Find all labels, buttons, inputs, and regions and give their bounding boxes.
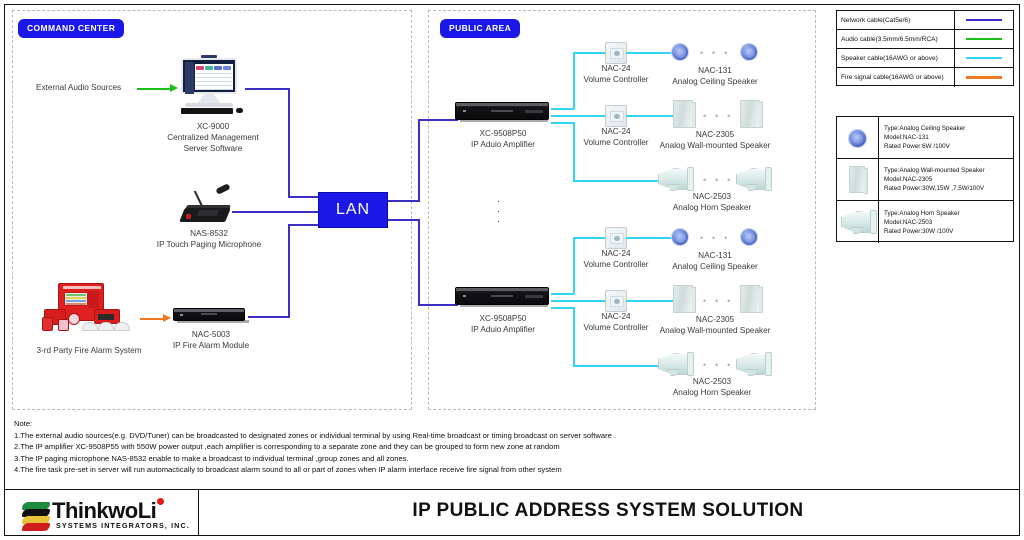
badge-public-area: PUBLIC AREA [440, 19, 520, 38]
app-sidebar-thumb [185, 62, 194, 94]
badge-command-center: COMMAND CENTER [18, 19, 124, 38]
ellipsis-horn-2: • • • [703, 361, 733, 370]
note-item-3: 3.The IP paging microphone NAS-8532 enab… [14, 453, 974, 465]
fire-cable-swatch [966, 76, 1002, 79]
label-wall-speaker-1-desc: Analog Wall-mounted Speaker [648, 140, 782, 151]
net-line-firemodule-h [248, 316, 290, 318]
net-line-mic-to-lan [232, 211, 319, 213]
legend-cable-label: Fire signal cable(16AWG or above) [837, 68, 955, 87]
label-fire-module-model: NAC-5003 [152, 329, 270, 340]
vertical-ellipsis-3: . [497, 216, 500, 224]
label-horn-speaker-1-desc: Analog Horn Speaker [656, 202, 768, 213]
label-amplifier2-desc: IP Aduio Amplifier [444, 324, 562, 335]
device-amplifier-2 [455, 287, 551, 309]
brand-subtitle: SYSTEMS INTEGRATORS, INC. [56, 521, 190, 530]
smoke-detector-icon-1 [82, 322, 98, 331]
fire-signal-line [140, 318, 164, 320]
vertical-ellipsis-2: . [497, 206, 500, 214]
label-server-desc: Centralized Management Server Software [152, 132, 274, 154]
ellipsis-wall-2: • • • [703, 297, 733, 306]
legend-device-model: Model:NAC-2503 [884, 218, 1013, 227]
net-line-server-v [288, 88, 290, 197]
label-vc1b-model: NAC-24 [575, 126, 657, 137]
legend-cable-swatch-cell [955, 30, 1013, 48]
label-vc2b-model: NAC-24 [575, 311, 657, 322]
spk-line-vc1b-to-speaker [626, 115, 674, 117]
net-line-lan-amp1-h1 [388, 200, 420, 202]
device-amplifier-1 [455, 102, 551, 124]
legend-cable-row: Audio cable(3.5mm/6.5mm/RCA) [837, 30, 1013, 49]
keyboard-icon [181, 108, 233, 114]
panel-keypad [88, 291, 99, 308]
spk-line-amp1-top-h [551, 108, 574, 110]
legend-cable-row: Speaker cable(16AWG or above) [837, 49, 1013, 68]
note-item-4: 4.The fire task pre-set in server will r… [14, 464, 974, 476]
device-wall-speaker-1a [673, 100, 693, 128]
spk-line-amp1-bot-h [551, 122, 574, 124]
label-fire-module-desc: IP Fire Alarm Module [142, 340, 280, 351]
spk-line-vc2b-to-speaker [626, 300, 674, 302]
legend-cable-label: Network cable(Cat5e/6) [837, 11, 955, 29]
legend-device-row: Type:Analog Wall-mounted Speaker Model:N… [837, 159, 1013, 201]
label-ceiling-speaker-2-desc: Analog Ceiling Speaker [660, 261, 770, 272]
label-wall-speaker-2-model: NAC-2305 [672, 314, 758, 325]
footer-title: IP PUBLIC ADDRESS SYSTEM SOLUTION [198, 500, 1018, 522]
spk-line-amp2-bot-h [551, 307, 574, 309]
speaker-cable-swatch [966, 57, 1002, 60]
legend-device-text: Type:Analog Wall-mounted Speaker Model:N… [879, 159, 1013, 200]
legend-cable-label: Audio cable(3.5mm/6.5mm/RCA) [837, 30, 955, 48]
device-volume-controller-2a [605, 227, 627, 249]
device-wall-speaker-1b [740, 100, 760, 128]
legend-device-power: Rated Power:6W /100V [884, 142, 1013, 151]
legend-device-text: Type:Analog Ceiling Speaker Model:NAC-13… [879, 117, 1013, 158]
legend-cable-swatch-cell [955, 49, 1013, 67]
label-amplifier1-desc: IP Aduio Amplifier [444, 139, 562, 150]
logo-leaf-red [22, 523, 50, 531]
lan-label: LAN [336, 201, 370, 219]
spk-line-amp2-top-h [551, 293, 574, 295]
spk-line-amp1-horn [573, 180, 659, 182]
audio-cable-swatch [966, 38, 1002, 41]
legend-wall-speaker-icon-cell [837, 159, 879, 200]
fire-extinguisher-icon [42, 317, 53, 331]
spk-line-vc1a-to-speaker [626, 52, 674, 54]
device-fire-alarm-module [173, 308, 249, 324]
label-amplifier2-model: XC-9508P50 [444, 313, 562, 324]
legend-device-power: Rated Power:30W,15W ,7.5W/100V [884, 184, 1013, 193]
label-amplifier1-model: XC-9508P50 [444, 128, 562, 139]
legend-cable-swatch-cell [955, 11, 1013, 29]
legend-device-model: Model:NAC-2305 [884, 175, 1013, 184]
wall-speaker-icon [849, 166, 865, 193]
label-horn-speaker-2-model: NAC-2503 [669, 376, 755, 387]
device-volume-controller-1a [605, 42, 627, 64]
note-item-2: 2.The IP amplifier XC-9508P55 with 550W … [14, 441, 974, 453]
ceiling-speaker-icon [848, 129, 867, 148]
panel-display [64, 292, 88, 306]
label-horn-speaker-1-model: NAC-2503 [669, 191, 755, 202]
legend-device-row: Type:Analog Ceiling Speaker Model:NAC-13… [837, 117, 1013, 159]
fire-signal-arrow-icon [163, 314, 171, 322]
net-line-server-h [245, 88, 289, 90]
net-line-lan-amp2-v [418, 219, 420, 305]
monitor-screen [181, 58, 237, 94]
device-server-monitor [181, 58, 245, 116]
notes-block: Note: 1.The external audio sources(e.g. … [14, 418, 974, 476]
device-horn-speaker-2a [658, 353, 692, 375]
ellipsis-wall-1: • • • [703, 112, 733, 121]
mic-display [197, 210, 219, 216]
brand-accent-dot [157, 498, 164, 505]
audio-cable-line [137, 88, 171, 90]
smoke-detector-icon-3 [114, 322, 130, 331]
device-horn-speaker-1b [736, 168, 770, 190]
device-horn-speaker-2b [736, 353, 770, 375]
legend-cable-types: Network cable(Cat5e/6) Audio cable(3.5mm… [836, 10, 1014, 86]
audio-arrow-icon [170, 84, 178, 92]
label-wall-speaker-1-model: NAC-2305 [672, 129, 758, 140]
device-volume-controller-1b [605, 105, 627, 127]
device-volume-controller-2b [605, 290, 627, 312]
fire-bell-icon [68, 313, 80, 325]
label-ceiling-speaker-1-model: NAC-131 [672, 65, 758, 76]
smoke-detector-icon-2 [98, 322, 114, 331]
legend-device-type: Type:Analog Wall-mounted Speaker [884, 166, 1013, 175]
legend-device-model: Model:NAC-131 [884, 133, 1013, 142]
label-ceiling-speaker-1-desc: Analog Ceiling Speaker [660, 76, 770, 87]
vertical-ellipsis-1: . [497, 196, 500, 204]
legend-device-type: Type:Analog Horn Speaker [884, 209, 1013, 218]
label-paging-mic-model: NAS-8532 [148, 228, 270, 239]
device-paging-microphone [172, 186, 242, 226]
net-line-lan-amp2-h2 [418, 304, 458, 306]
device-horn-speaker-1a [658, 168, 692, 190]
mic-talk-button [186, 214, 191, 219]
legend-cable-row: Fire signal cable(16AWG or above) [837, 68, 1013, 87]
legend-cable-label: Speaker cable(16AWG or above) [837, 49, 955, 67]
legend-cable-swatch-cell [955, 68, 1013, 87]
device-ceiling-speaker-1a [671, 43, 689, 61]
label-vc2a-desc: Volume Controller [570, 259, 662, 270]
note-item-1: 1.The external audio sources(e.g. DVD/Tu… [14, 430, 974, 442]
mouse-icon [236, 108, 243, 113]
legend-device-type: Type:Analog Ceiling Speaker [884, 124, 1013, 133]
net-line-firemodule-v [288, 224, 290, 317]
net-line-lan-amp2-h1 [388, 219, 420, 221]
legend-device-text: Type:Analog Horn Speaker Model:NAC-2503 … [879, 201, 1013, 243]
ellipsis-horn-1: • • • [703, 176, 733, 185]
diagram-root: COMMAND CENTER PUBLIC AREA External Audi… [0, 0, 1024, 540]
label-vc2a-model: NAC-24 [575, 248, 657, 259]
device-wall-speaker-2a [673, 285, 693, 313]
footer-divider-horizontal [4, 489, 1020, 490]
device-wall-speaker-2b [740, 285, 760, 313]
spk-line-amp1-wall [551, 115, 606, 117]
net-line-lan-amp1-h2 [418, 119, 458, 121]
notes-heading: Note: [14, 418, 974, 430]
net-line-server-to-lan [288, 196, 319, 198]
legend-horn-speaker-icon-cell [837, 201, 879, 243]
label-paging-mic-desc: IP Touch Paging Microphone [138, 239, 280, 250]
legend-device-row: Type:Analog Horn Speaker Model:NAC-2503 … [837, 201, 1013, 243]
spk-line-amp2-ceiling [573, 237, 606, 239]
net-line-lan-amp1-v [418, 119, 420, 201]
horn-speaker-icon [841, 211, 875, 233]
ellipsis-ceiling-2: • • • [700, 234, 730, 243]
lan-node: LAN [318, 192, 388, 228]
label-wall-speaker-2-desc: Analog Wall-mounted Speaker [648, 325, 782, 336]
monitor-base [185, 103, 233, 107]
net-line-firemodule-to-lan [288, 224, 319, 226]
spk-line-amp2-horn [573, 365, 659, 367]
device-ceiling-speaker-1b [740, 43, 758, 61]
label-ceiling-speaker-2-model: NAC-131 [672, 250, 758, 261]
app-content-thumb [195, 64, 233, 90]
ellipsis-ceiling-1: • • • [700, 49, 730, 58]
spk-line-amp1-ceiling [573, 52, 606, 54]
panel-header-strip [63, 286, 101, 289]
label-horn-speaker-2-desc: Analog Horn Speaker [656, 387, 768, 398]
legend-device-types: Type:Analog Ceiling Speaker Model:NAC-13… [836, 116, 1014, 242]
device-third-party-fire-alarm [40, 283, 136, 333]
spk-line-vc2a-to-speaker [626, 237, 674, 239]
device-ceiling-speaker-2b [740, 228, 758, 246]
label-server-model: XC-9000 [152, 121, 274, 132]
label-vc1a-model: NAC-24 [575, 63, 657, 74]
network-cable-swatch [966, 19, 1002, 22]
legend-ceiling-speaker-icon-cell [837, 117, 879, 158]
device-ceiling-speaker-2a [671, 228, 689, 246]
legend-device-power: Rated Power:30W /100V [884, 227, 1013, 236]
label-vc1a-desc: Volume Controller [570, 74, 662, 85]
spk-line-amp2-wall [551, 300, 606, 302]
legend-cable-row: Network cable(Cat5e/6) [837, 11, 1013, 30]
fire-siren-icon [58, 319, 69, 331]
